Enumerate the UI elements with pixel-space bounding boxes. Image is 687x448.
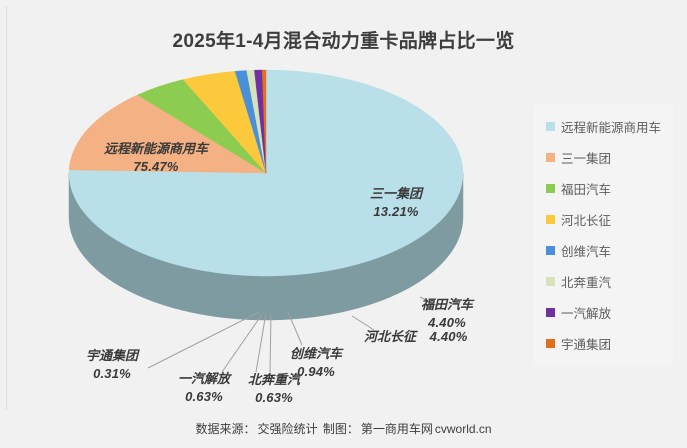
legend-item-label: 一汽解放 (561, 303, 611, 322)
credit-label: 制图： (323, 422, 359, 436)
slice-label-sany: 三一集团 13.21% (370, 185, 422, 222)
legend-swatch-icon (546, 153, 555, 162)
legend-item-label: 河北长征 (561, 210, 611, 229)
slice-name: 一汽解放 (178, 370, 230, 388)
legend-swatch-icon (546, 339, 555, 348)
slice-label-beiben: 北奔重汽 0.63% (248, 371, 300, 408)
legend-item[interactable]: 北奔重汽 (533, 266, 673, 297)
slice-name: 河北长征 (364, 328, 416, 346)
legend-item[interactable]: 福田汽车 (533, 173, 673, 204)
legend-item[interactable]: 三一集团 (533, 142, 673, 173)
slice-label-yuancheng: 远程新能源商用车 75.47% (104, 140, 208, 177)
legend-item[interactable]: 创维汽车 (533, 235, 673, 266)
slice-name: 北奔重汽 (248, 371, 300, 389)
legend: 远程新能源商用车三一集团福田汽车河北长征创维汽车北奔重汽一汽解放宇通集团 (533, 105, 673, 365)
legend-item-label: 宇通集团 (561, 334, 611, 353)
slice-pct: 75.47% (104, 158, 208, 176)
source-value: 交强险统计 (257, 422, 317, 436)
legend-item-label: 福田汽车 (561, 179, 611, 198)
legend-item[interactable]: 河北长征 (533, 204, 673, 235)
pie-chart-figure: 2025年1-4月混合动力重卡品牌占比一览 远程新能源商用车 75.47% 三一… (0, 0, 687, 448)
legend-swatch-icon (546, 246, 555, 255)
legend-swatch-icon (546, 184, 555, 193)
slice-pct: 0.63% (178, 388, 230, 406)
slice-label-hebeichangzheng: 河北长征 4.40% (364, 328, 468, 346)
legend-item[interactable]: 远程新能源商用车 (533, 111, 673, 142)
legend-item[interactable]: 宇通集团 (533, 328, 673, 359)
slice-label-faw: 一汽解放 0.63% (178, 370, 230, 407)
source-label: 数据来源： (195, 422, 255, 436)
credit-value: 第一商用车网 (361, 422, 433, 436)
slice-name: 远程新能源商用车 (104, 140, 208, 158)
legend-item-label: 北奔重汽 (561, 272, 611, 291)
slice-name: 宇通集团 (86, 347, 138, 365)
slice-pct: 0.63% (248, 389, 300, 407)
legend-swatch-icon (546, 122, 555, 131)
slice-name: 创维汽车 (290, 345, 342, 363)
slice-pct: 13.21% (370, 203, 422, 221)
site-name: cvworld.cn (435, 422, 492, 436)
slice-pct: 0.31% (86, 365, 138, 383)
legend-swatch-icon (546, 215, 555, 224)
slice-name: 福田汽车 (421, 296, 473, 314)
slice-label-yutong: 宇通集团 0.31% (86, 347, 138, 384)
legend-item-label: 远程新能源商用车 (561, 117, 661, 136)
slice-pct: 4.40% (430, 328, 468, 346)
legend-swatch-icon (546, 277, 555, 286)
legend-item-label: 三一集团 (561, 148, 611, 167)
legend-item-label: 创维汽车 (561, 241, 611, 260)
footer-note: 数据来源：交强险统计 制图：第一商用车网cvworld.cn (0, 420, 687, 437)
legend-item[interactable]: 一汽解放 (533, 297, 673, 328)
slice-name: 三一集团 (370, 185, 422, 203)
legend-swatch-icon (546, 308, 555, 317)
